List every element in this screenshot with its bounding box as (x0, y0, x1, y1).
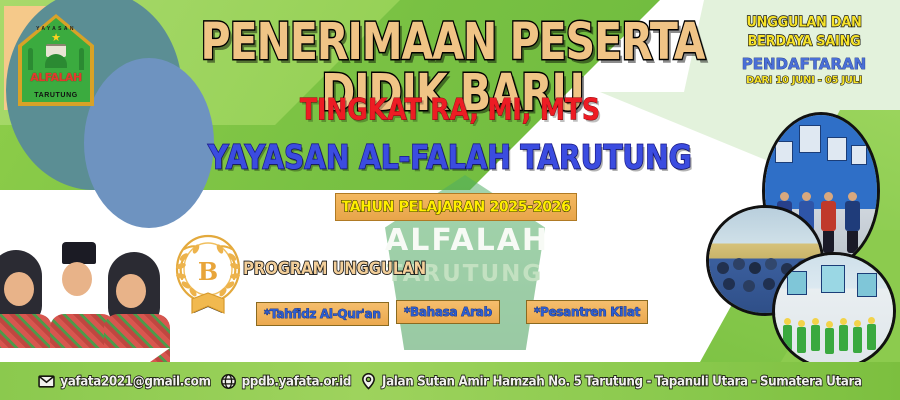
window (857, 273, 877, 297)
window (775, 141, 793, 163)
uniform (797, 327, 806, 353)
uniform (783, 325, 792, 351)
band-member (845, 192, 860, 253)
contact-email-text: yafata2021@gmail.com (60, 373, 210, 389)
head (826, 321, 833, 328)
highlight-line-2: BERDAYA SAING (714, 32, 894, 53)
window (799, 125, 821, 153)
globe-icon (220, 373, 237, 390)
star-icon: ★ (51, 33, 61, 44)
head (802, 192, 811, 201)
ppdb-banner: ALFALAH TARUTUNG YAYASAN ★ A (0, 0, 900, 400)
bottom-bar-notch (0, 348, 170, 362)
contact-email[interactable]: yafata2021@gmail.com (38, 373, 210, 390)
person (763, 278, 775, 290)
student-green-uniform (783, 318, 792, 351)
head (780, 192, 789, 201)
logo-name-text: ALFALAH (18, 71, 94, 84)
school-logo: YAYASAN ★ ALFALAH TARUTUNG (18, 14, 94, 106)
legs (823, 231, 834, 253)
head (868, 317, 875, 324)
head (848, 192, 857, 201)
person (749, 262, 761, 274)
program-badge[interactable]: *Pesantren Kilat (526, 300, 648, 324)
head (854, 320, 861, 327)
highlight-line-1: UNGGULAN DAN (714, 13, 894, 34)
program-badge-label: *Tahfidz Al-Qur'an (264, 307, 381, 321)
contact-address-text: Jalan Sutan Amir Hamzah No. 5 Tarutung -… (382, 373, 862, 389)
photo-school-building-students (772, 252, 896, 370)
contact-website[interactable]: ppdb.yafata.or.id (220, 373, 351, 390)
contact-address: Jalan Sutan Amir Hamzah No. 5 Tarutung -… (360, 373, 862, 390)
minaret-right-icon (79, 48, 84, 70)
student-green-uniform (839, 318, 848, 351)
uniform (839, 325, 848, 351)
head (840, 318, 847, 325)
program-badge[interactable]: *Tahfidz Al-Qur'an (256, 302, 389, 326)
highlight-block: UNGGULAN DAN BERDAYA SAING PENDAFTARAN D… (714, 14, 894, 86)
registration-period: DARI 10 JUNI - 05 JULI (714, 75, 894, 86)
window (827, 137, 847, 161)
student-green-uniform (797, 320, 806, 353)
person (743, 280, 755, 292)
map-pin-icon (360, 373, 377, 390)
person (717, 262, 729, 274)
contact-website-text: ppdb.yafata.or.id (242, 373, 351, 389)
band-member (821, 192, 836, 253)
student-green-uniform (825, 321, 834, 354)
window (821, 265, 845, 293)
head (812, 318, 819, 325)
watermark-line-1: ALFALAH (385, 223, 545, 258)
program-badge-label: *Bahasa Arab (404, 305, 492, 319)
subtitle-levels: TINGKAT RA, MI, MTS (230, 93, 670, 127)
head (784, 318, 791, 325)
laurel-medal-icon: B (172, 233, 244, 321)
head (798, 320, 805, 327)
window (851, 145, 867, 165)
head (824, 192, 833, 201)
program-badge[interactable]: *Bahasa Arab (396, 300, 500, 324)
subtitle-foundation: YAYASAN AL-FALAH TARUTUNG (190, 138, 710, 177)
programs-heading: PROGRAM UNGGULAN (243, 258, 426, 279)
person (723, 278, 735, 290)
uniform (825, 328, 834, 354)
registration-label: PENDAFTARAN (714, 55, 894, 73)
uniform (867, 324, 876, 350)
logo-city-text: TARUTUNG (18, 92, 94, 99)
student-green-uniform (853, 320, 862, 353)
school-year-badge: TAHUN PELAJARAN 2025-2026 (335, 193, 577, 221)
person (733, 258, 745, 270)
envelope-icon (38, 373, 55, 390)
uniform (845, 201, 860, 231)
programs-badge-list: *Tahfidz Al-Qur'an *Bahasa Arab *Pesantr… (256, 300, 646, 326)
contact-bar: yafata2021@gmail.com ppdb.yafata.or.id J… (0, 362, 900, 400)
uniform (853, 327, 862, 353)
school-year-text: TAHUN PELAJARAN 2025-2026 (341, 198, 570, 216)
student-green-uniform (811, 318, 820, 351)
uniform (821, 201, 836, 231)
legs (847, 231, 858, 253)
student-green-uniform (867, 317, 876, 350)
minaret-left-icon (28, 48, 33, 70)
medal-letter: B (172, 257, 244, 286)
window (787, 271, 807, 295)
program-badge-label: *Pesantren Kilat (534, 305, 640, 319)
uniform (811, 325, 820, 351)
